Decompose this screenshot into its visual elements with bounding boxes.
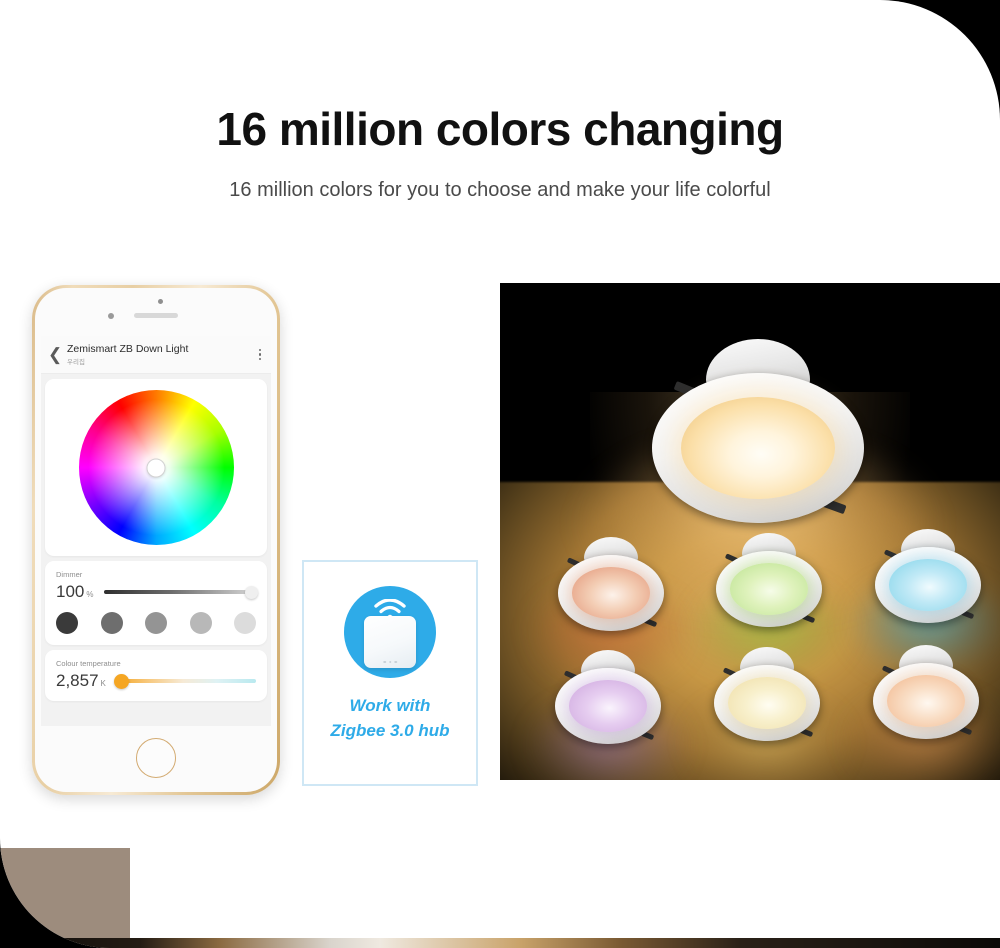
zigbee-hub-icon — [344, 586, 436, 678]
brightness-preset-row — [56, 612, 256, 634]
corner-background — [0, 848, 130, 948]
brightness-preset[interactable] — [234, 612, 256, 634]
zigbee-badge-line2: Zigbee 3.0 hub — [330, 719, 449, 744]
dimmer-card: Dimmer 100% — [45, 561, 267, 645]
colour-temperature-label: Colour temperature — [56, 659, 256, 668]
colour-temperature-card: Colour temperature 2,857K — [45, 650, 267, 701]
colour-temperature-value: 2,857 — [56, 671, 99, 690]
main-downlight — [652, 373, 864, 523]
app-title-group: Zemismart ZB Down Light 우리집 — [67, 343, 253, 366]
phone-body: ❮ Zemismart ZB Down Light 우리집 — [35, 288, 277, 792]
brightness-preset[interactable] — [56, 612, 78, 634]
brightness-preset[interactable] — [101, 612, 123, 634]
bottom-edge-strip — [0, 938, 1000, 948]
colour-temperature-slider-track[interactable] — [116, 679, 256, 683]
phone-top-bezel — [35, 288, 277, 336]
colour-temperature-row: 2,857K — [56, 671, 256, 691]
downlight-cyan — [875, 547, 981, 623]
downlight-face — [728, 677, 806, 729]
dimmer-slider[interactable] — [104, 585, 257, 599]
brightness-preset[interactable] — [190, 612, 212, 634]
phone-mockup: ❮ Zemismart ZB Down Light 우리집 — [32, 285, 280, 795]
app-bar: ❮ Zemismart ZB Down Light 우리집 — [41, 336, 271, 374]
hub-led-indicators — [383, 661, 397, 664]
dimmer-label: Dimmer — [56, 570, 256, 579]
zigbee-badge-text: Work with Zigbee 3.0 hub — [330, 694, 449, 743]
downlight-face — [889, 559, 967, 611]
proximity-sensor-icon — [158, 299, 163, 304]
device-room: 우리집 — [67, 356, 253, 366]
brightness-preset[interactable] — [145, 612, 167, 634]
downlight-peach — [873, 663, 979, 739]
dimmer-slider-track[interactable] — [104, 590, 257, 594]
page-sheet: 16 million colors changing 16 million co… — [0, 0, 1000, 948]
downlight-warmwhite — [714, 665, 820, 741]
main-downlight-face — [681, 397, 836, 499]
zigbee-badge-line1: Work with — [330, 694, 449, 719]
page-subtitle: 16 million colors for you to choose and … — [0, 179, 1000, 202]
product-photo — [500, 283, 1000, 780]
more-vertical-icon[interactable] — [259, 349, 265, 361]
downlight-salmon — [558, 555, 664, 631]
home-button[interactable] — [136, 738, 176, 778]
color-wheel-card[interactable] — [45, 379, 267, 556]
colour-temperature-slider[interactable] — [116, 674, 256, 688]
dimmer-slider-knob[interactable] — [245, 586, 258, 599]
zigbee-compatibility-badge: Work with Zigbee 3.0 hub — [302, 560, 478, 786]
page-title: 16 million colors changing — [0, 104, 1000, 155]
color-wheel[interactable] — [79, 390, 234, 545]
phone-screen: ❮ Zemismart ZB Down Light 우리집 — [41, 336, 271, 726]
downlight-green — [716, 551, 822, 627]
headline-block: 16 million colors changing 16 million co… — [0, 104, 1000, 202]
colour-temperature-unit: K — [101, 679, 106, 688]
earpiece-speaker — [134, 313, 178, 318]
device-name: Zemismart ZB Down Light — [67, 343, 253, 355]
back-icon[interactable]: ❮ — [48, 346, 61, 363]
hub-device — [364, 616, 416, 668]
colour-temperature-value-group: 2,857K — [56, 671, 106, 691]
dimmer-value: 100 — [56, 582, 84, 601]
downlight-face — [569, 680, 647, 732]
front-camera-icon — [108, 313, 114, 319]
dimmer-unit: % — [86, 590, 93, 599]
colour-temperature-slider-knob[interactable] — [114, 674, 129, 689]
downlight-face — [730, 563, 808, 615]
downlight-purple — [555, 668, 661, 744]
dimmer-row: 100% — [56, 582, 256, 602]
dimmer-value-group: 100% — [56, 582, 94, 602]
color-wheel-selector[interactable] — [147, 458, 166, 477]
downlight-face — [572, 567, 650, 619]
downlight-face — [887, 675, 965, 727]
